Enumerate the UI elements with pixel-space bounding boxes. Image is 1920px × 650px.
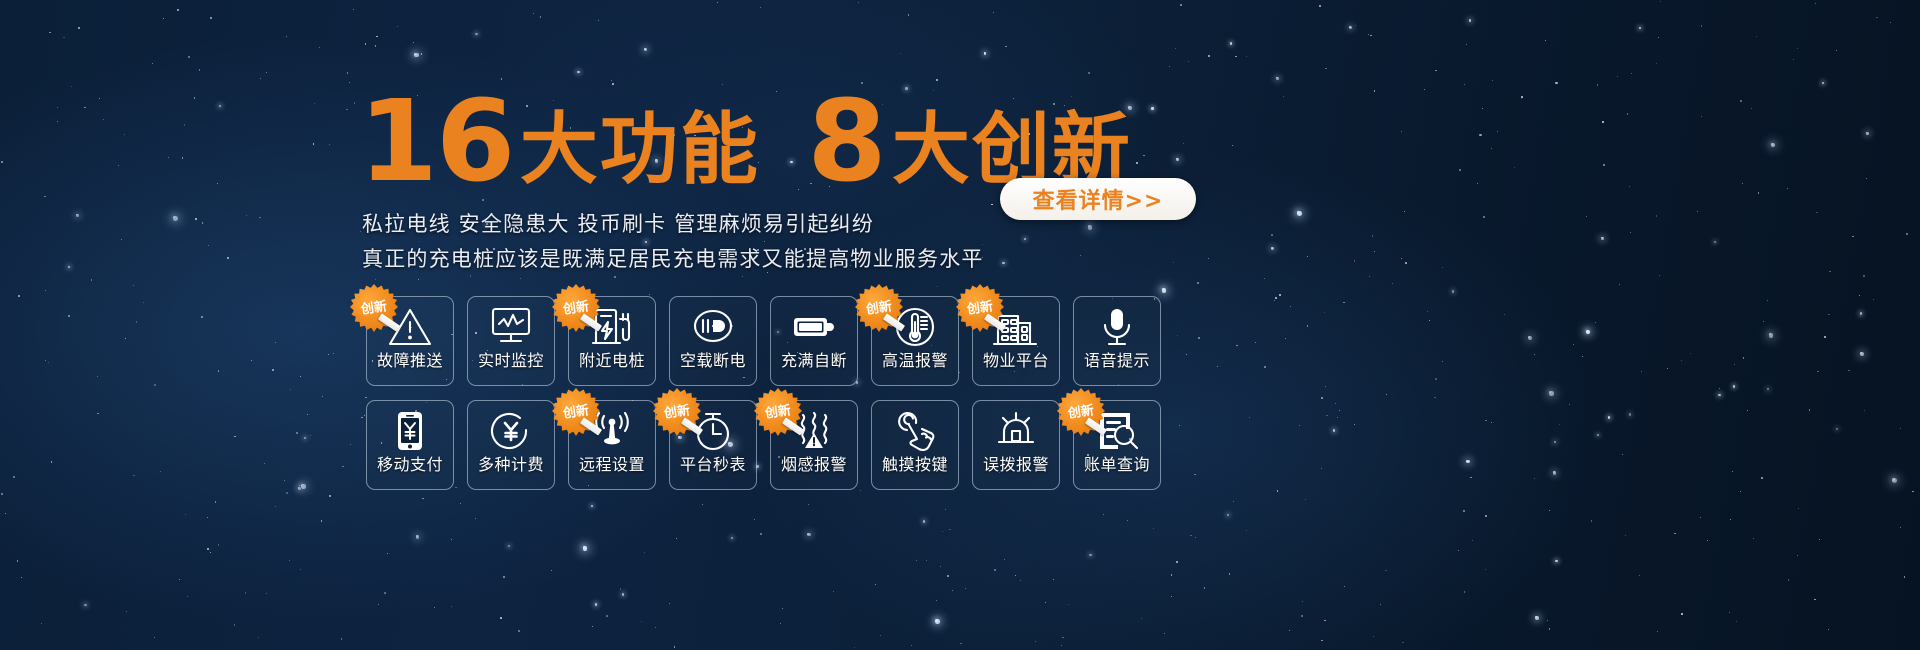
feature-card-yuan-circle[interactable]: 多种计费 <box>467 400 555 490</box>
feature-grid: 故障推送创新实时监控附近电桩创新空载断电充满自断高温报警创新物业平台创新语音提示… <box>360 296 1168 492</box>
feature-card-microphone[interactable]: 语音提示 <box>1073 296 1161 386</box>
feature-label: 语音提示 <box>1084 353 1150 369</box>
feature-cell: 触摸按键 <box>865 400 966 492</box>
feature-cell: 附近电桩创新 <box>562 296 663 388</box>
feature-card-warning-triangle[interactable]: 故障推送 <box>366 296 454 386</box>
feature-cell: 移动支付 <box>360 400 461 492</box>
feature-label: 充满自断 <box>781 353 847 369</box>
feature-cell: 实时监控 <box>461 296 562 388</box>
touch-hand-icon <box>872 401 958 457</box>
feature-label: 烟感报警 <box>781 457 847 473</box>
antenna-signal-icon <box>569 401 655 457</box>
feature-cell: 充满自断 <box>764 296 865 388</box>
feature-card-thermometer[interactable]: 高温报警 <box>871 296 959 386</box>
plug-disconnect-icon <box>670 297 756 353</box>
subtitle-line-2: 真正的充电桩应该是既满足居民充电需求又能提高物业服务水平 <box>362 243 984 273</box>
subtitle-line-1: 私拉电线 安全隐患大 投币刷卡 管理麻烦易引起纠纷 <box>362 208 874 238</box>
feature-cell: 高温报警创新 <box>865 296 966 388</box>
feature-label: 误拨报警 <box>983 457 1049 473</box>
feature-cell: 多种计费 <box>461 400 562 492</box>
monitor-waveform-icon <box>468 297 554 353</box>
feature-label: 触摸按键 <box>882 457 948 473</box>
yuan-circle-icon <box>468 401 554 457</box>
feature-label: 远程设置 <box>579 457 645 473</box>
feature-card-plug-disconnect[interactable]: 空载断电 <box>669 296 757 386</box>
promo-banner: 16 大功能 8 大创新 私拉电线 安全隐患大 投币刷卡 管理麻烦易引起纠纷 真… <box>0 0 1920 650</box>
feature-label: 账单查询 <box>1084 457 1150 473</box>
feature-card-stopwatch[interactable]: 平台秒表 <box>669 400 757 490</box>
microphone-icon <box>1074 297 1160 353</box>
feature-card-bill-search[interactable]: 账单查询 <box>1073 400 1161 490</box>
feature-cell: 物业平台创新 <box>966 296 1067 388</box>
siren-icon <box>973 401 1059 457</box>
headline-count-functions: 16 <box>358 86 513 198</box>
feature-cell: 平台秒表创新 <box>663 400 764 492</box>
battery-full-icon <box>771 297 857 353</box>
feature-cell: 空载断电 <box>663 296 764 388</box>
view-details-button[interactable]: 查看详情>> <box>1000 178 1196 220</box>
feature-label: 实时监控 <box>478 353 544 369</box>
feature-label: 多种计费 <box>478 457 544 473</box>
warning-triangle-icon <box>367 297 453 353</box>
feature-card-touch-hand[interactable]: 触摸按键 <box>871 400 959 490</box>
feature-card-antenna-signal[interactable]: 远程设置 <box>568 400 656 490</box>
feature-card-siren[interactable]: 误拨报警 <box>972 400 1060 490</box>
feature-cell: 烟感报警创新 <box>764 400 865 492</box>
feature-card-battery-full[interactable]: 充满自断 <box>770 296 858 386</box>
feature-card-monitor-waveform[interactable]: 实时监控 <box>467 296 555 386</box>
feature-cell: 远程设置创新 <box>562 400 663 492</box>
feature-card-smoke-alarm[interactable]: 烟感报警 <box>770 400 858 490</box>
feature-label: 移动支付 <box>377 457 443 473</box>
feature-cell: 语音提示 <box>1067 296 1168 388</box>
feature-label: 故障推送 <box>377 353 443 369</box>
feature-cell: 误拨报警 <box>966 400 1067 492</box>
stopwatch-icon <box>670 401 756 457</box>
headline-label-functions: 大功能 <box>520 111 760 189</box>
feature-cell: 故障推送创新 <box>360 296 461 388</box>
feature-label: 平台秒表 <box>680 457 746 473</box>
feature-label: 高温报警 <box>882 353 948 369</box>
headline-count-innovations: 8 <box>807 86 884 198</box>
feature-card-mobile-yuan[interactable]: 移动支付 <box>366 400 454 490</box>
feature-card-charging-station[interactable]: 附近电桩 <box>568 296 656 386</box>
bill-search-icon <box>1074 401 1160 457</box>
charging-station-icon <box>569 297 655 353</box>
feature-label: 附近电桩 <box>579 353 645 369</box>
feature-card-building[interactable]: 物业平台 <box>972 296 1060 386</box>
thermometer-icon <box>872 297 958 353</box>
feature-label: 空载断电 <box>680 353 746 369</box>
building-icon <box>973 297 1059 353</box>
feature-cell: 账单查询创新 <box>1067 400 1168 492</box>
smoke-alarm-icon <box>771 401 857 457</box>
mobile-yuan-icon <box>367 401 453 457</box>
feature-label: 物业平台 <box>983 353 1049 369</box>
